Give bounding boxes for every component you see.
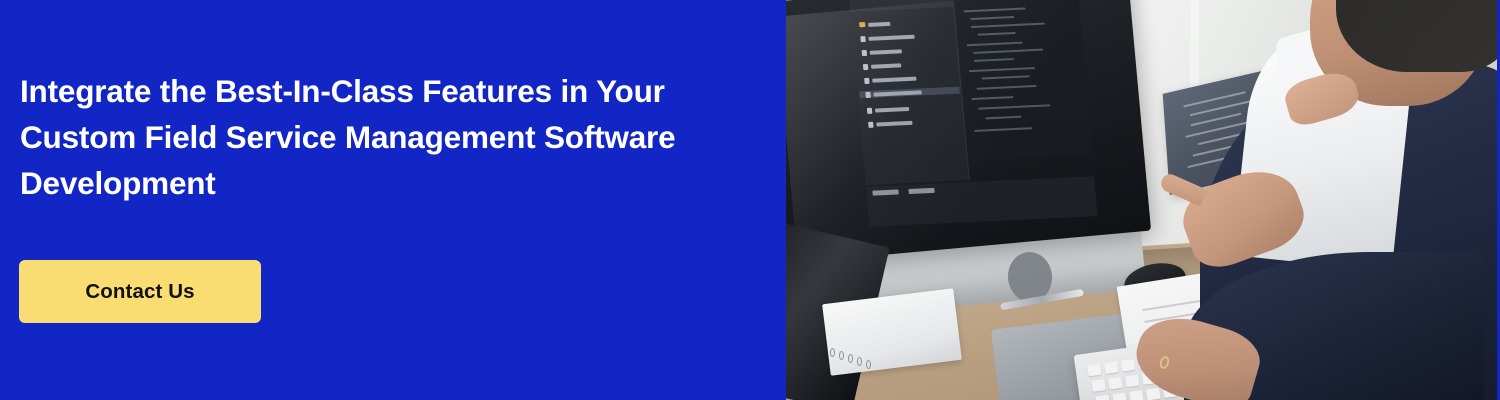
file-icon (862, 49, 868, 55)
file-icon (864, 77, 870, 83)
hero-photo (786, 0, 1500, 400)
file-icon (865, 91, 871, 97)
folder-row (859, 20, 891, 28)
file-icon (860, 36, 866, 42)
contact-us-button[interactable]: Contact Us (19, 260, 261, 323)
file-label (872, 76, 916, 82)
file-row (861, 47, 902, 56)
file-row-selected (859, 87, 960, 99)
file-label (868, 34, 914, 40)
page-title: Integrate the Best-In-Class Features in … (20, 68, 780, 206)
code-pane (954, 0, 1092, 160)
file-label (875, 106, 909, 112)
file-row (864, 75, 917, 84)
code-editor-window (849, 0, 1095, 199)
folder-icon (859, 22, 865, 27)
file-icon (867, 107, 873, 113)
file-row (867, 105, 910, 114)
hero-banner: Integrate the Best-In-Class Features in … (0, 0, 1500, 400)
file-icon (868, 121, 874, 127)
file-row (860, 33, 915, 43)
editor-titlebar (849, 0, 954, 12)
folder-label (868, 21, 890, 26)
file-label (871, 63, 901, 68)
file-icon (863, 63, 869, 69)
file-label (870, 49, 902, 54)
file-explorer-panel (849, 0, 970, 185)
file-row (868, 119, 913, 128)
left-text-panel: Integrate the Best-In-Class Features in … (0, 0, 786, 400)
file-label (873, 90, 921, 96)
file-row (863, 61, 902, 70)
file-label (876, 120, 912, 126)
